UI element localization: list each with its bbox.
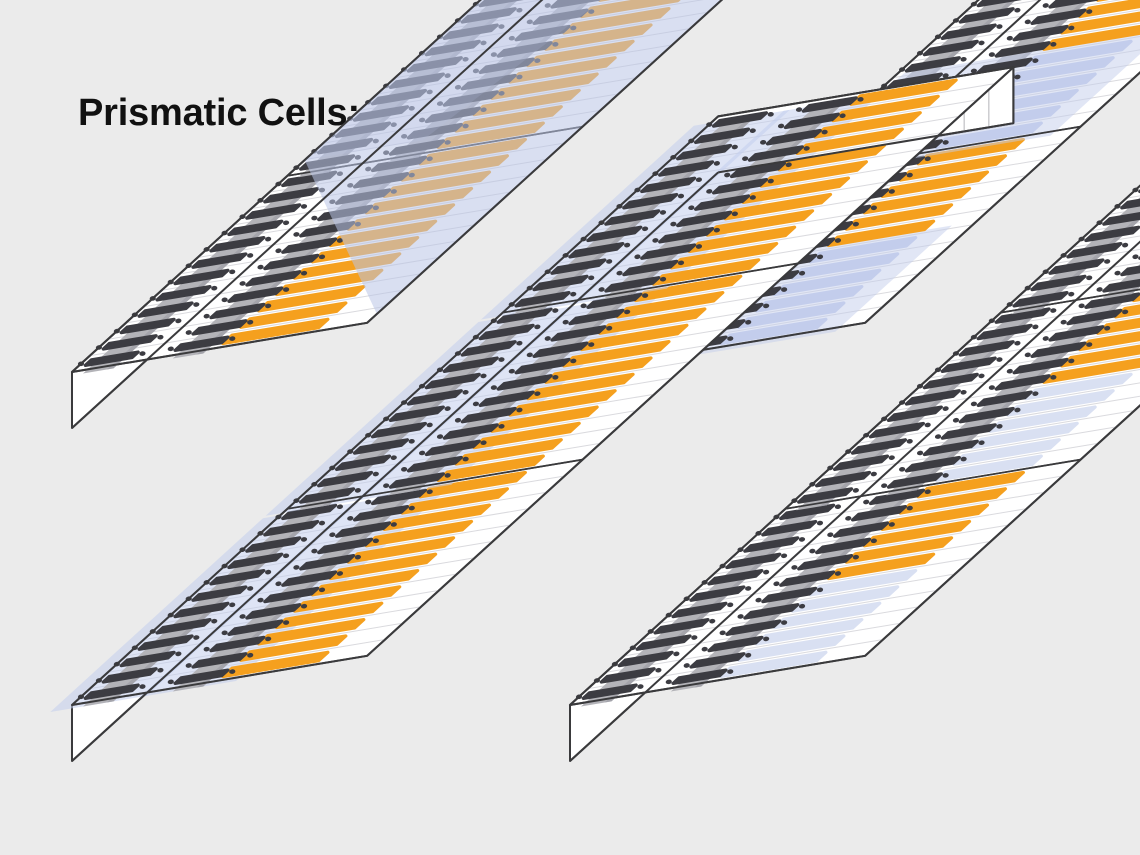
- prismatic-cell[interactable]: [1114, 162, 1140, 209]
- diagram-stage: [0, 0, 1140, 855]
- prismatic-cells-diagram: [0, 0, 1140, 855]
